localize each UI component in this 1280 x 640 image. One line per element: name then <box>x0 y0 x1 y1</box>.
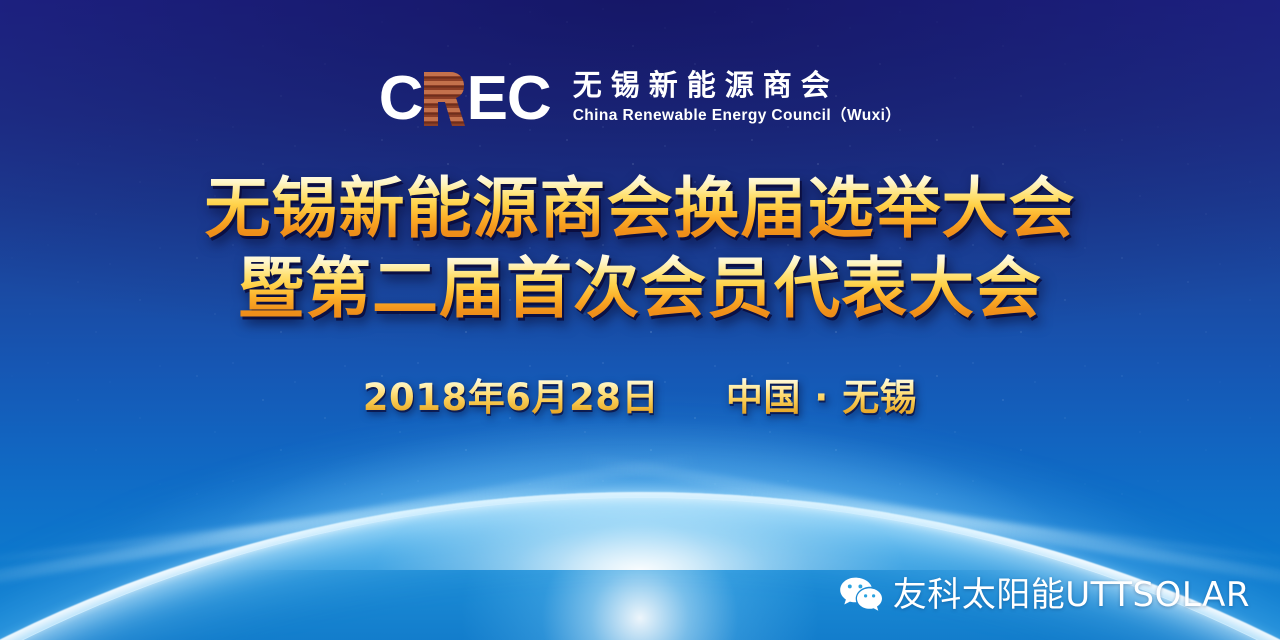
event-date: 2018年6月28日 <box>363 376 659 420</box>
title-line-1: 无锡新能源商会换届选举大会 <box>0 172 1280 246</box>
watermark: 友科太阳能UTTSOLAR <box>839 576 1250 614</box>
cec-letters-ec: EC <box>467 68 551 130</box>
cec-striped-r-icon <box>420 70 466 128</box>
wechat-icon <box>839 576 883 614</box>
org-name-en: China Renewable Energy Council（Wuxi） <box>573 107 901 126</box>
watermark-text: 友科太阳能UTTSOLAR <box>893 576 1250 614</box>
event-meta: 2018年6月28日 中国 · 无锡 <box>0 376 1280 420</box>
cec-wordmark: C <box>379 68 551 130</box>
main-title: 无锡新能源商会换届选举大会 暨第二届首次会员代表大会 <box>0 172 1280 326</box>
atmosphere-rim <box>0 492 1280 640</box>
conference-banner: C <box>0 0 1280 640</box>
cec-letter-c1: C <box>379 68 423 130</box>
title-line-2: 暨第二届首次会员代表大会 <box>0 252 1280 326</box>
logo-lockup: C <box>0 68 1280 130</box>
org-name-cn: 无锡新能源商会 <box>573 70 901 103</box>
organization-names: 无锡新能源商会 China Renewable Energy Council（W… <box>573 70 901 128</box>
event-location: 中国 · 无锡 <box>726 376 917 420</box>
